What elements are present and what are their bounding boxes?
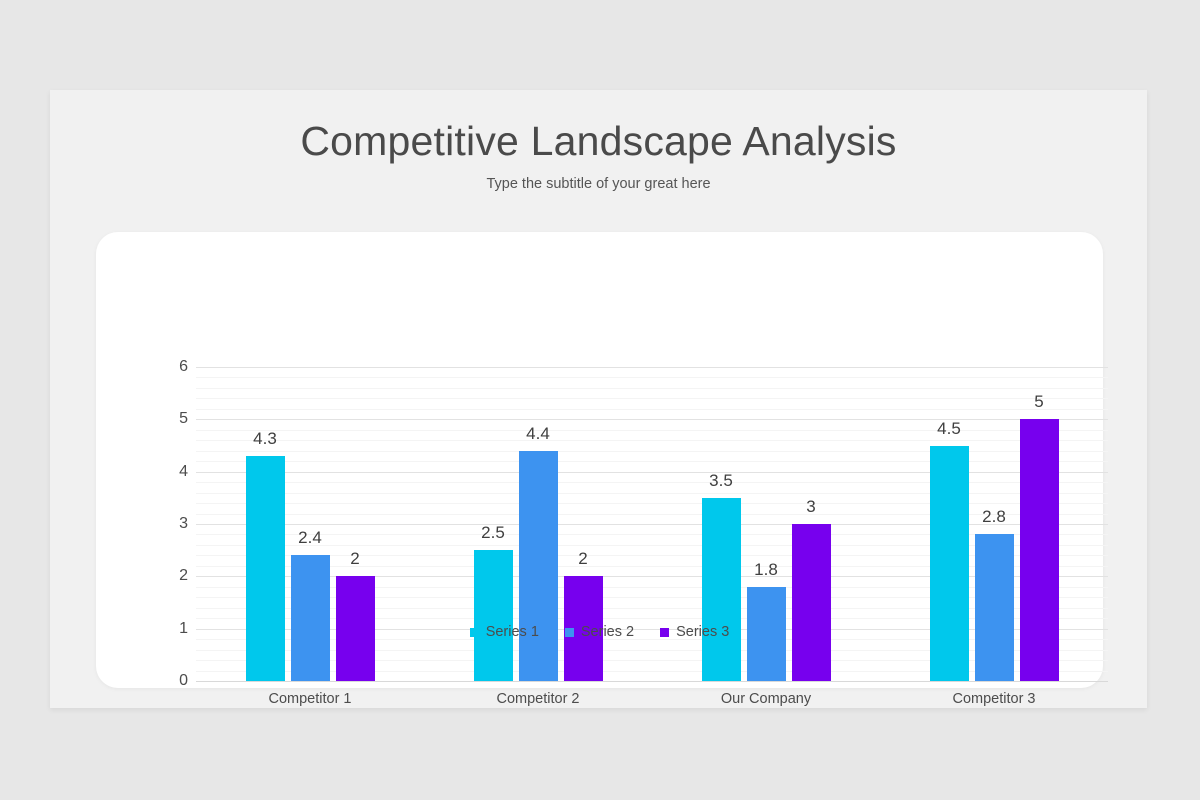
legend-swatch-icon (565, 628, 574, 637)
y-axis-tick-label: 3 (148, 515, 188, 533)
legend-label: Series 1 (486, 624, 539, 640)
gridline (196, 681, 1108, 682)
bar-value-label: 2.5 (458, 523, 528, 543)
bar-value-label: 4.5 (914, 419, 984, 439)
bar-3-series-3[interactable] (792, 524, 831, 681)
legend-label: Series 2 (581, 624, 634, 640)
bar-chart: 0123456 Competitor 1Competitor 2Our Comp… (96, 232, 1103, 688)
bar-value-label: 2 (320, 549, 390, 569)
legend-label: Series 3 (676, 624, 729, 640)
bar-1-series-1[interactable] (246, 456, 285, 681)
x-axis-category-label: Competitor 1 (220, 691, 400, 707)
bar-value-label: 4.3 (230, 429, 300, 449)
y-axis-tick-label: 4 (148, 463, 188, 481)
legend-swatch-icon (470, 628, 479, 637)
bar-value-label: 1.8 (731, 560, 801, 580)
bar-value-label: 2.4 (275, 528, 345, 548)
page-subtitle: Type the subtitle of your great here (50, 176, 1147, 192)
y-axis-tick-label: 5 (148, 410, 188, 428)
chart-card: 0123456 Competitor 1Competitor 2Our Comp… (96, 232, 1103, 688)
page-title: Competitive Landscape Analysis (50, 118, 1147, 165)
legend-item-series-2[interactable]: Series 2 (565, 624, 634, 640)
legend-swatch-icon (660, 628, 669, 637)
bar-value-label: 5 (1004, 392, 1074, 412)
chart-legend: Series 1Series 2Series 3 (96, 624, 1103, 640)
bar-value-label: 3 (776, 497, 846, 517)
bar-4-series-2[interactable] (975, 534, 1014, 681)
x-axis-category-label: Our Company (676, 691, 856, 707)
bar-4-series-3[interactable] (1020, 419, 1059, 681)
bar-1-series-2[interactable] (291, 555, 330, 681)
x-axis-category-label: Competitor 2 (448, 691, 628, 707)
y-axis-tick-label: 6 (148, 358, 188, 376)
bar-2-series-1[interactable] (474, 550, 513, 681)
y-axis-tick-label: 2 (148, 567, 188, 585)
bar-value-label: 3.5 (686, 471, 756, 491)
bar-4-series-1[interactable] (930, 446, 969, 682)
bar-value-label: 2 (548, 549, 618, 569)
bar-value-label: 4.4 (503, 424, 573, 444)
slide-panel: Competitive Landscape Analysis Type the … (50, 90, 1147, 708)
bar-3-series-1[interactable] (702, 498, 741, 681)
x-axis-category-label: Competitor 3 (904, 691, 1084, 707)
y-axis-tick-label: 0 (148, 672, 188, 690)
bar-value-label: 2.8 (959, 507, 1029, 527)
legend-item-series-1[interactable]: Series 1 (470, 624, 539, 640)
legend-item-series-3[interactable]: Series 3 (660, 624, 729, 640)
